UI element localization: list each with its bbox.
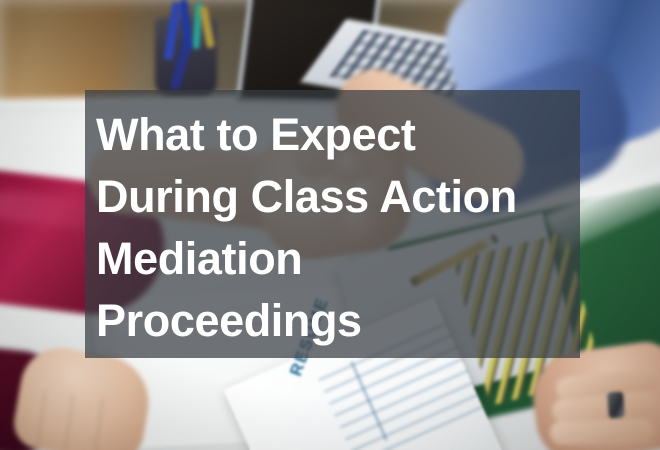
title-overlay-panel: What to Expect During Class Action Media… [85,90,580,358]
page-title: What to Expect During Class Action Media… [96,104,580,352]
banner-image: RESUME What to Expect During Class Actio… [0,0,660,450]
wedding-ring [607,391,625,418]
finger [550,419,654,445]
